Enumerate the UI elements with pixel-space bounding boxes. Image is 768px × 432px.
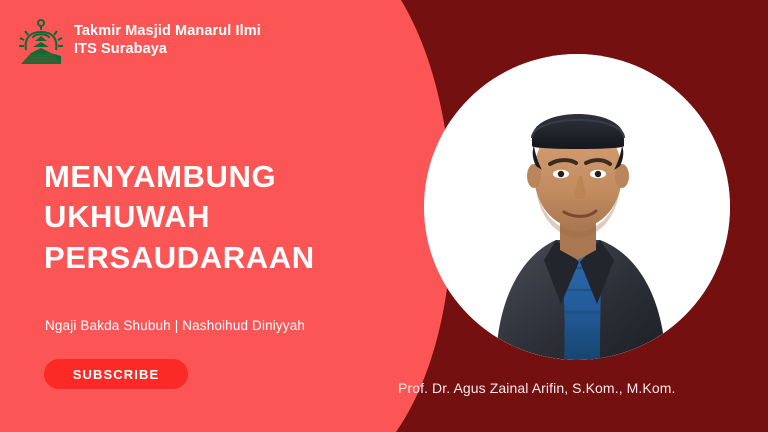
brand-header-text: Takmir Masjid Manarul Ilmi ITS Surabaya: [74, 23, 261, 58]
poster-canvas: Takmir Masjid Manarul Ilmi ITS Surabaya …: [0, 0, 768, 432]
speaker-name-caption: Prof. Dr. Agus Zainal Arifin, S.Kom., M.…: [398, 380, 676, 396]
org-name-line1: Takmir Masjid Manarul Ilmi: [74, 23, 261, 39]
title-line-2: UKHUWAH: [44, 197, 384, 237]
org-name-line2: ITS Surabaya: [74, 41, 261, 59]
title-line-3: PERSAUDARAAN: [44, 238, 384, 278]
title-line-1: MENYAMBUNG: [44, 157, 384, 197]
subscribe-button[interactable]: SUBSCRIBE: [44, 359, 188, 389]
poster-title: MENYAMBUNG UKHUWAH PERSAUDARAAN: [44, 157, 384, 278]
its-masjid-manarul-ilmi-logo-icon: [18, 16, 64, 66]
speaker-portrait-circle: [424, 54, 730, 360]
brand-header: Takmir Masjid Manarul Ilmi ITS Surabaya: [18, 16, 261, 66]
poster-subtitle: Ngaji Bakda Shubuh | Nashoihud Diniyyah: [45, 318, 305, 333]
speaker-portrait-photo: [424, 54, 730, 360]
